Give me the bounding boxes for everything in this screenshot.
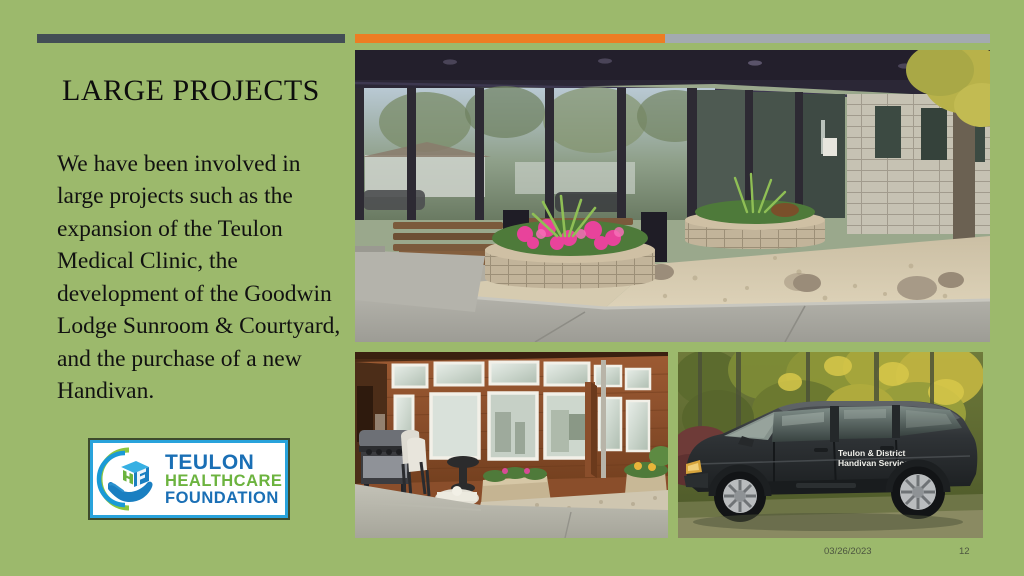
teulon-healthcare-foundation-logo: TEULON HEALTHCARE FOUNDATION (90, 440, 288, 518)
logo-text-healthcare: HEALTHCARE (165, 473, 282, 490)
logo-text-teulon: TEULON (165, 452, 282, 473)
goodwin-lodge-sunroom-photo (355, 352, 668, 538)
footer-date: 03/26/2023 (824, 546, 872, 557)
teulon-medical-clinic-photo (355, 50, 990, 342)
logo-text-foundation: FOUNDATION (165, 490, 282, 507)
footer-page-number: 12 (959, 546, 970, 557)
page-title: LARGE PROJECTS (62, 74, 352, 107)
handivan-photo: Teulon & District Handivan Service (678, 352, 983, 538)
accent-bar-orange (355, 34, 665, 43)
accent-bar-dark (37, 34, 345, 43)
svg-text:Teulon & District: Teulon & District (838, 448, 906, 458)
hand-cradling-hf-cube-icon (95, 445, 163, 513)
accent-bar-gray (665, 34, 990, 43)
body-paragraph: We have been involved in large projects … (57, 148, 342, 407)
slide: LARGE PROJECTS We have been involved in … (0, 0, 1024, 576)
